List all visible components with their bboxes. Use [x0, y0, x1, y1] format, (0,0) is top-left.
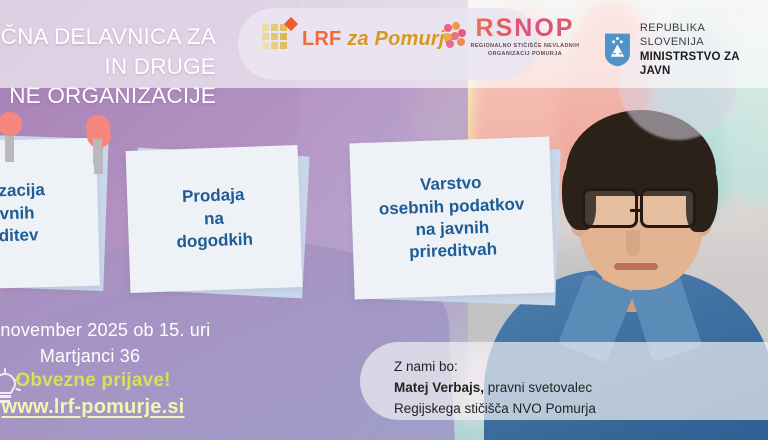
portrait-eyeglass-bridge: [630, 209, 642, 212]
speaker-name-role: Matej Verbajs, pravni svetovalec: [394, 377, 596, 398]
flower-cluster-icon: [442, 22, 468, 48]
logo-government: REPUBLIKA SLOVENIJA MINISTRSTVO ZA JAVN: [604, 22, 768, 78]
slovenia-coat-of-arms-icon: [604, 32, 631, 68]
pushpin-head-1: [0, 112, 22, 136]
logo-lrf-text: LRF za Pomurje: [302, 28, 456, 51]
logo-government-line1: REPUBLIKA SLOVENIJA: [640, 22, 768, 50]
logo-rsnop-subtitle: REGIONALNO STIČIŠČE NEVLADNIH ORGANIZACI…: [460, 43, 590, 59]
page-title-line3: NE ORGANIZACIJE: [0, 81, 216, 111]
topic-card-3-label: Varstvo osebnih podatkov na javnih prire…: [349, 137, 554, 300]
logo-rsnop-wordmark: RSNOP: [460, 16, 590, 41]
portrait-eyeglass-left: [582, 188, 638, 228]
event-location: Martjanci 36: [0, 344, 250, 370]
cta-url-link[interactable]: www.lrf-pomurje.si: [0, 396, 248, 419]
portrait-nose: [626, 230, 640, 256]
event-details: 28. november 2025 ob 15. uri Martjanci 3…: [0, 318, 250, 369]
logo-lrf: LRF za Pomurje: [262, 24, 456, 54]
logo-government-text: REPUBLIKA SLOVENIJA MINISTRSTVO ZA JAVN: [640, 22, 768, 78]
speaker-name: Matej Verbajs,: [394, 380, 484, 395]
page-title-line1: ČNA DELAVNICA ZA: [0, 22, 216, 52]
portrait-mouth: [614, 263, 658, 270]
pushpin-icon-1: [0, 112, 22, 162]
page-title: ČNA DELAVNICA ZA IN DRUGE NE ORGANIZACIJ…: [0, 22, 216, 111]
speaker-org: Regijskega stičišča NVO Pomurja: [394, 398, 596, 419]
registration-cta[interactable]: Obvezne prijave! www.lrf-pomurje.si: [0, 370, 248, 419]
poster-canvas: LRF za Pomurje RSNOP REGIONALNO STIČIŠČE…: [0, 0, 768, 440]
page-title-line2: IN DRUGE: [0, 52, 216, 82]
topic-card-3: Varstvo osebnih podatkov na javnih prire…: [352, 140, 567, 305]
logo-rsnop: RSNOP REGIONALNO STIČIŠČE NEVLADNIH ORGA…: [460, 16, 590, 59]
pushpin-icon-3: [86, 115, 110, 165]
topic-card-2-label: Prodaja na dogodkih: [126, 145, 303, 293]
logo-rsnop-subtitle-line2: ORGANIZACIJ POMURJA: [460, 51, 590, 59]
portrait-eyeglass-right: [640, 188, 696, 228]
logo-rsnop-subtitle-line1: REGIONALNO STIČIŠČE NEVLADNIH: [460, 43, 590, 51]
pushpin-head-3: [86, 115, 110, 139]
speaker-role: pravni svetovalec: [484, 380, 592, 395]
topic-card-2: Prodaja na dogodkih: [128, 148, 313, 298]
grid-squares-icon: [262, 24, 294, 54]
logo-lrf-tagline: za Pomurje: [347, 28, 456, 50]
logo-government-line2: MINISTRSTVO ZA JAVN: [640, 50, 768, 79]
cta-label: Obvezne prijave!: [0, 370, 248, 392]
speaker-info-text: Z nami bo: Matej Verbajs, pravni svetova…: [394, 356, 596, 419]
event-datetime: 28. november 2025 ob 15. uri: [0, 318, 250, 344]
speaker-info-pill: Z nami bo: Matej Verbajs, pravni svetova…: [360, 342, 768, 420]
logo-lrf-acronym: LRF: [302, 28, 341, 50]
speaker-intro: Z nami bo:: [394, 356, 596, 377]
